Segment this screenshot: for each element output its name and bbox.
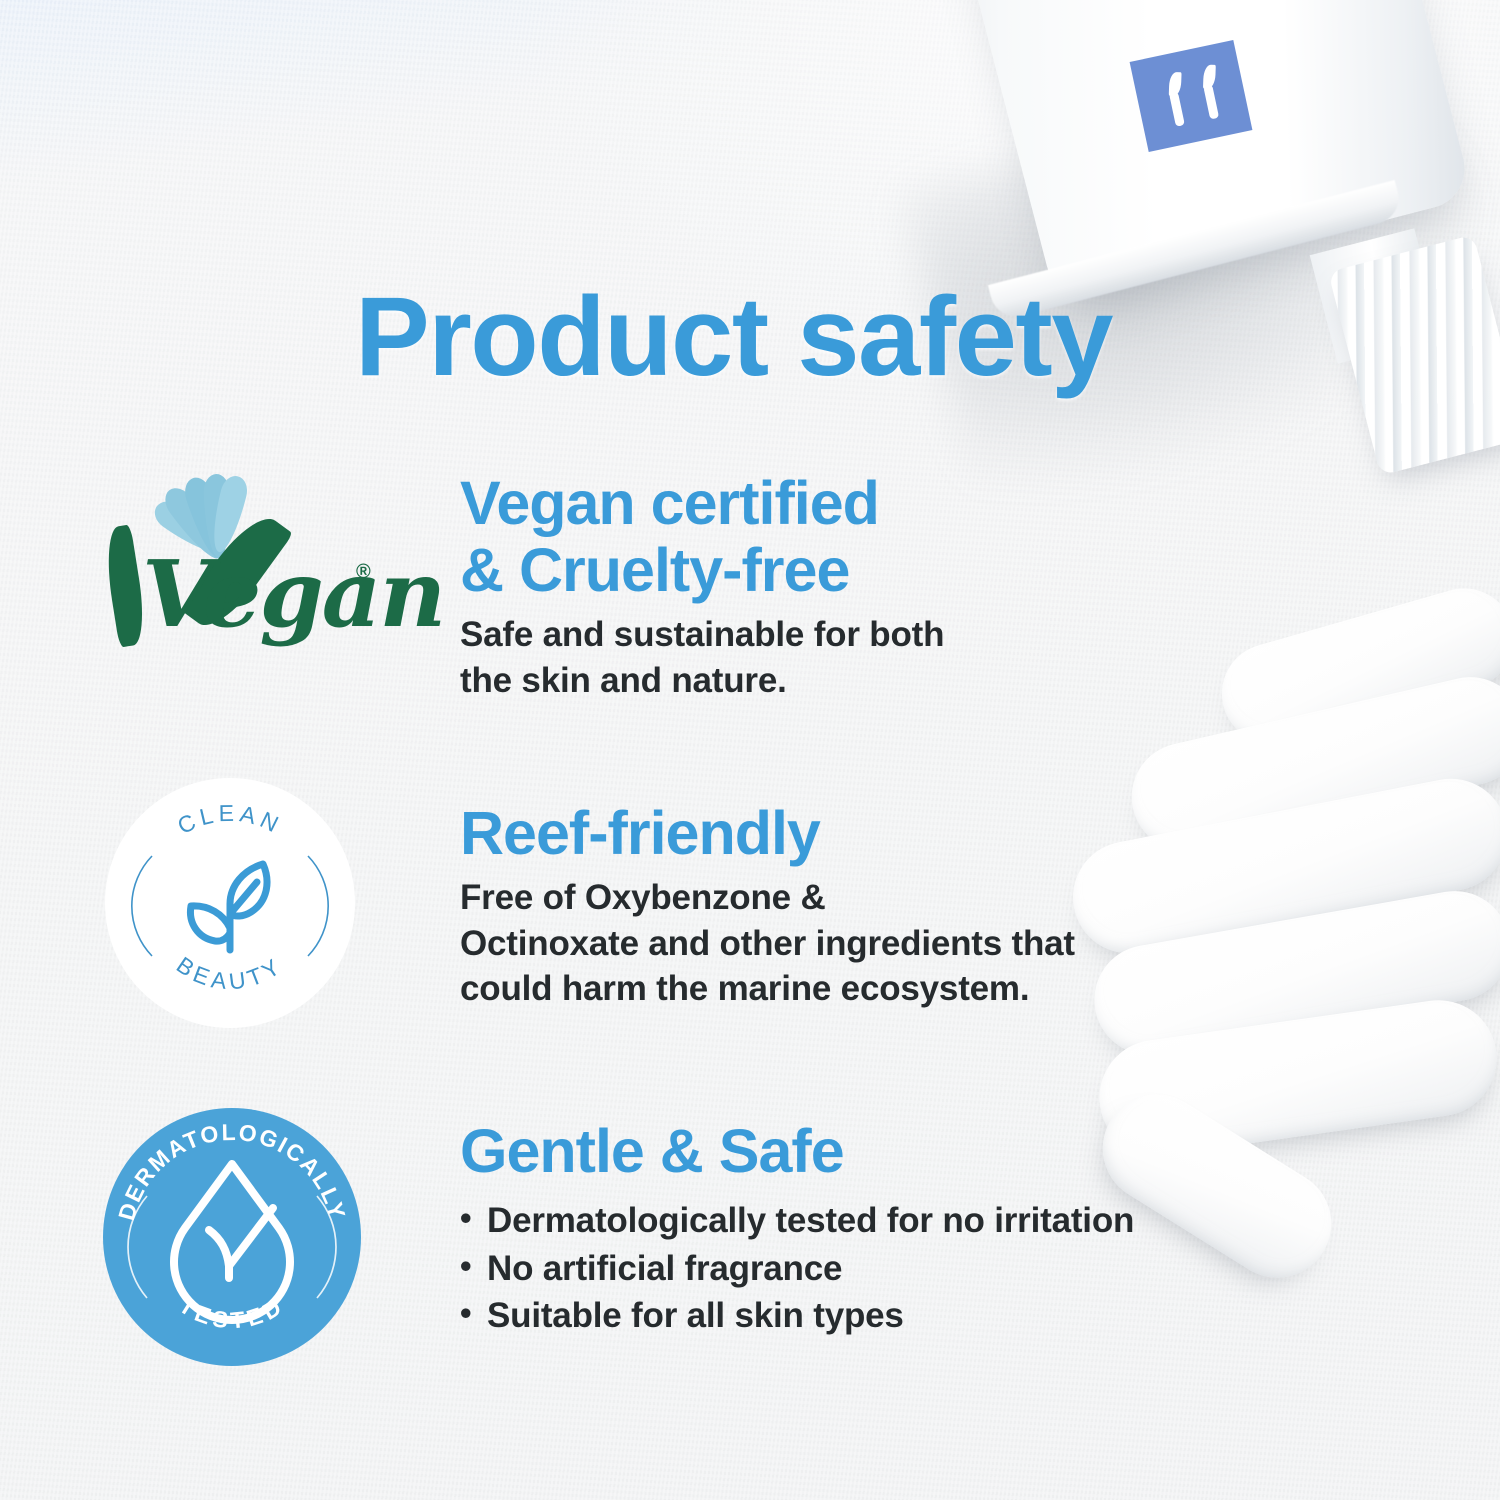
sprout-leaf-icon [190, 864, 267, 950]
sprout-glyph-right [1190, 63, 1227, 121]
list-item: No artificial fragrance [460, 1245, 1134, 1293]
product-safety-infographic: Product safety Vegan ® [0, 0, 1500, 1500]
feature-body: Safe and sustainable for both the skin a… [460, 612, 944, 703]
dermatologically-tested-badge: DERMATOLOGICALLY TESTED [103, 1108, 361, 1366]
feature-body: Free of Oxybenzone & Octinoxate and othe… [460, 875, 1075, 1012]
derm-arc-top-text: DERMATOLOGICALLY [113, 1119, 351, 1223]
feature-block-gentle-safe: Gentle & Safe Dermatologically tested fo… [460, 1118, 1134, 1340]
clean-beauty-arc-right [308, 856, 328, 956]
clean-beauty-arc-bottom-text: BEAUTY [172, 951, 288, 994]
list-item: Suitable for all skin types [460, 1292, 1134, 1340]
derm-arc-bottom-text: TESTED [175, 1292, 290, 1334]
vegan-wordmark: Vegan [142, 548, 444, 640]
sprout-glyph-left [1156, 71, 1193, 129]
clean-beauty-arc-top-text: CLEAN [173, 800, 286, 839]
registered-trademark-icon: ® [356, 561, 371, 584]
clean-beauty-badge: CLEAN BEAUTY [105, 778, 355, 1028]
feature-bullet-list: Dermatologically tested for no irritatio… [460, 1197, 1134, 1340]
feature-heading: Gentle & Safe [460, 1118, 1134, 1185]
page-title: Product safety [355, 281, 1112, 393]
list-item: Dermatologically tested for no irritatio… [460, 1197, 1134, 1245]
feature-heading: Reef-friendly [460, 800, 1075, 867]
vegan-certified-badge: Vegan ® [88, 466, 374, 666]
feature-block-vegan: Vegan certified & Cruelty-free Safe and … [460, 470, 944, 703]
feature-heading: Vegan certified & Cruelty-free [460, 470, 944, 604]
feature-block-reef-friendly: Reef-friendly Free of Oxybenzone & Octin… [460, 800, 1075, 1012]
clean-beauty-arc-left [132, 856, 152, 956]
